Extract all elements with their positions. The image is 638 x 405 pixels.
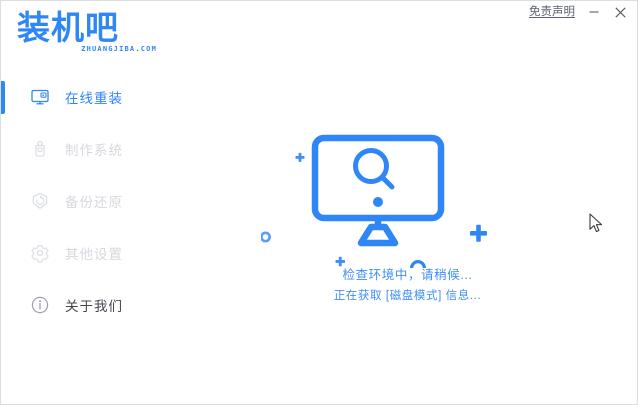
- sidebar: 在线重装 制作系统 备份还原: [1, 71, 176, 371]
- brand-logo: 装机吧 ZHUANGJIBA.COM: [17, 9, 157, 61]
- gear-icon: [29, 242, 51, 264]
- close-icon: [614, 6, 627, 19]
- usb-drive-icon: [29, 138, 51, 160]
- magnifier-handle: [383, 178, 393, 188]
- main-content: 检查环境中，请稍候... 正在获取 [磁盘模式] 信息...: [176, 23, 638, 405]
- sidebar-item-about-us[interactable]: 关于我们: [1, 279, 176, 331]
- sidebar-item-backup-restore[interactable]: 备份还原: [1, 175, 176, 227]
- window-controls: 免责声明: [523, 1, 633, 23]
- sidebar-item-label: 其他设置: [65, 243, 123, 263]
- minimize-icon: [588, 6, 600, 18]
- status-secondary: 正在获取 [磁盘模式] 信息...: [176, 287, 638, 303]
- sidebar-item-label: 制作系统: [65, 139, 123, 159]
- status-primary: 检查环境中，请稍候...: [176, 264, 638, 283]
- sidebar-item-label: 在线重装: [65, 87, 123, 107]
- info-circle-icon: [29, 294, 51, 316]
- monitor-icon: [29, 86, 51, 108]
- sidebar-item-online-reinstall[interactable]: 在线重装: [1, 71, 176, 123]
- brand-name-en: ZHUANGJIBA.COM: [81, 45, 157, 53]
- shield-box-icon: [29, 190, 51, 212]
- scan-dot: [373, 197, 383, 207]
- minimize-button[interactable]: [581, 1, 607, 23]
- active-indicator: [1, 81, 5, 114]
- decor-plus-small-top: [296, 153, 305, 162]
- sidebar-item-label: 关于我们: [65, 295, 123, 315]
- close-button[interactable]: [607, 1, 633, 23]
- disclaimer-link[interactable]: 免责声明: [523, 1, 581, 23]
- decor-plus-large-right: [470, 225, 487, 242]
- sidebar-item-make-system[interactable]: 制作系统: [1, 123, 176, 175]
- decor-ring-small-left: [261, 233, 269, 241]
- app-window: 免责声明 装机吧 ZHUANGJIBA.COM: [0, 0, 638, 405]
- sidebar-item-label: 备份还原: [65, 191, 123, 211]
- monitor-search-icon: [261, 118, 521, 268]
- sidebar-item-other-settings[interactable]: 其他设置: [1, 227, 176, 279]
- brand-name-zh: 装机吧: [17, 9, 157, 47]
- monitor-stand-base: [361, 227, 395, 243]
